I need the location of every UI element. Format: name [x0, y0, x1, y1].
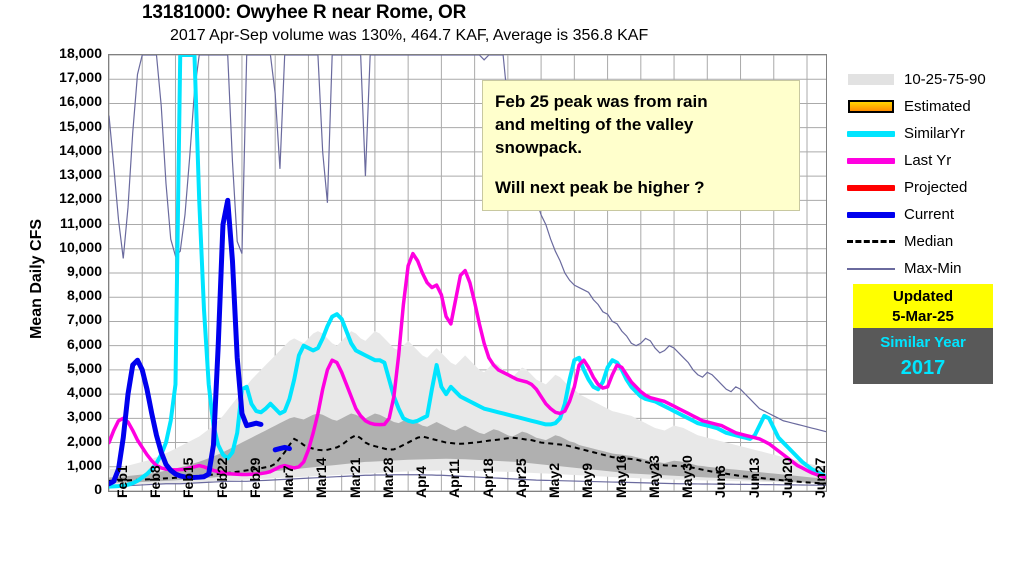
legend-label: Median [904, 233, 953, 250]
legend-swatch-icon [845, 150, 897, 172]
x-tick-label: Jun20 [779, 458, 795, 498]
x-tick-label: May2 [546, 463, 562, 498]
legend-item-max-min[interactable]: Max-Min [845, 255, 1020, 282]
x-tick-label: Jun6 [712, 465, 728, 498]
similar-year-box: Similar Year 2017 [853, 328, 993, 384]
annotation-line-2: and melting of the valley [495, 113, 799, 136]
legend-label: Last Yr [904, 152, 951, 169]
legend-swatch-icon [845, 231, 897, 253]
legend-swatch-icon [845, 123, 897, 145]
updated-title: Updated [853, 284, 993, 307]
x-tick-label: Mar14 [313, 458, 329, 498]
legend-label: SimilarYr [904, 125, 965, 142]
legend-item-estimated[interactable]: Estimated [845, 93, 1020, 120]
x-tick-label: May30 [679, 455, 695, 498]
x-tick-label: Apr11 [446, 459, 462, 498]
annotation-line-4: Will next peak be higher ? [495, 176, 799, 199]
legend-item-projected[interactable]: Projected [845, 174, 1020, 201]
legend-swatch-icon [845, 258, 897, 280]
legend-item-current[interactable]: Current [845, 201, 1020, 228]
legend-label: Max-Min [904, 260, 962, 277]
updated-date: 5-Mar-25 [853, 307, 993, 327]
x-tick-label: Feb22 [214, 458, 230, 498]
annotation-spacer [495, 159, 799, 176]
legend-item-median[interactable]: Median [845, 228, 1020, 255]
legend-item-last-yr[interactable]: Last Yr [845, 147, 1020, 174]
chart-legend: 10-25-75-90EstimatedSimilarYrLast YrProj… [845, 66, 1020, 282]
annotation-callout: Feb 25 peak was from rain and melting of… [482, 80, 800, 211]
annotation-line-3: snowpack. [495, 136, 799, 159]
x-tick-label: May9 [579, 463, 595, 498]
x-tick-label: Feb8 [147, 465, 163, 498]
x-tick-label: Jun27 [812, 458, 828, 498]
similar-year-title: Similar Year [853, 328, 993, 356]
legend-swatch-icon [845, 177, 897, 199]
legend-item-10-25-75-90[interactable]: 10-25-75-90 [845, 66, 1020, 93]
x-tick-label: Feb1 [114, 465, 130, 498]
x-tick-label: Apr4 [413, 466, 429, 498]
x-tick-label: Apr18 [480, 458, 496, 498]
legend-label: 10-25-75-90 [904, 71, 986, 88]
x-tick-label: Mar21 [347, 458, 363, 498]
similar-year-value: 2017 [853, 356, 993, 381]
legend-label: Estimated [904, 98, 971, 115]
x-tick-label: Jun13 [746, 458, 762, 498]
x-tick-label: Apr25 [513, 458, 529, 498]
x-tick-label: May23 [646, 455, 662, 498]
legend-label: Projected [904, 179, 967, 196]
updated-box: Updated 5-Mar-25 [853, 284, 993, 328]
annotation-line-1: Feb 25 peak was from rain [495, 90, 799, 113]
x-tick-label: Feb29 [247, 458, 263, 498]
legend-item-similaryr[interactable]: SimilarYr [845, 120, 1020, 147]
legend-swatch-icon [845, 69, 897, 91]
legend-swatch-icon [845, 96, 897, 118]
legend-label: Current [904, 206, 954, 223]
x-tick-label: May16 [613, 455, 629, 498]
x-tick-label: Mar7 [280, 465, 296, 498]
x-tick-label: Mar28 [380, 458, 396, 498]
chart-page: 13181000: Owyhee R near Rome, OR 2017 Ap… [0, 0, 1024, 575]
legend-swatch-icon [845, 204, 897, 226]
x-tick-label: Feb15 [180, 458, 196, 498]
